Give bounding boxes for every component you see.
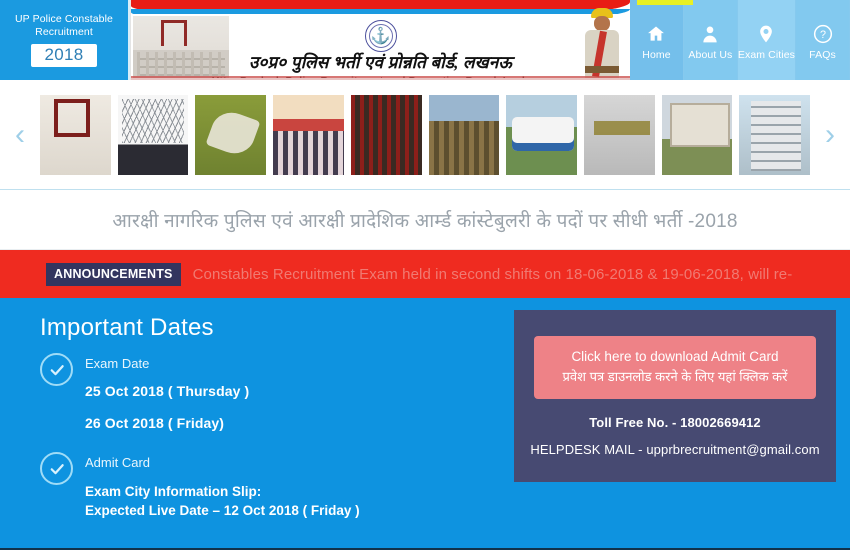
police-emblem-icon [365, 20, 397, 52]
chevron-left-icon[interactable]: ‹ [0, 80, 40, 190]
banner-titles: उ०प्र० पुलिस भर्ती एवं प्रोन्नति बोर्ड, … [131, 20, 630, 80]
admit-card-label: Admit Card [85, 455, 360, 470]
chevron-right-icon[interactable]: › [810, 80, 850, 190]
download-admit-card-label-en: Click here to download Admit Card [540, 347, 810, 367]
location-pin-icon [755, 23, 777, 45]
carousel-thumbnail[interactable] [273, 95, 344, 175]
exam-date-value-1: 25 Oct 2018 ( Thursday ) [85, 383, 249, 399]
site-header: UP Police Constable Recruitment 2018 उ०प… [0, 0, 850, 80]
question-circle-icon: ? [812, 23, 834, 45]
announcement-ticker-text[interactable]: Constables Recruitment Exam held in seco… [193, 266, 793, 283]
board-banner: उ०प्र० पुलिस भर्ती एवं प्रोन्नति बोर्ड, … [130, 0, 630, 80]
carousel-thumbnail[interactable] [506, 95, 577, 175]
download-admit-card-button[interactable]: Click here to download Admit Card प्रवेश… [534, 336, 816, 399]
carousel-thumbnail[interactable] [429, 95, 500, 175]
page-root: UP Police Constable Recruitment 2018 उ०प… [0, 0, 850, 550]
admit-card-help-panel: Click here to download Admit Card प्रवेश… [514, 310, 836, 482]
officer-belt [585, 66, 619, 73]
carousel-thumbnail[interactable] [118, 95, 189, 175]
carousel-thumbnail[interactable] [739, 95, 810, 175]
brand-year-badge: 2018 [31, 44, 96, 67]
carousel-thumbnail[interactable] [351, 95, 422, 175]
exam-date-value-2: 26 Oct 2018 ( Friday) [85, 415, 249, 431]
nav-accent-bar [637, 0, 693, 5]
nav-item-home[interactable]: Home [630, 0, 684, 80]
brand-title-line1: UP Police Constable [15, 13, 113, 25]
carousel-thumbnail[interactable] [662, 95, 733, 175]
brand-title: UP Police Constable Recruitment [15, 13, 113, 39]
check-circle-icon [40, 353, 73, 386]
download-admit-card-label-hi: प्रवेश पत्र डाउनलोड करने के लिए यहां क्ल… [540, 367, 810, 387]
exam-city-slip-line-2: Expected Live Date – 12 Oct 2018 ( Frida… [85, 501, 360, 520]
helpdesk-mail[interactable]: HELPDESK MAIL - upprbrecruitment@gmail.c… [530, 442, 819, 457]
officer-head [594, 16, 610, 31]
banner-title-hindi: उ०प्र० पुलिस भर्ती एवं प्रोन्नति बोर्ड, … [131, 53, 630, 73]
exam-date-label: Exam Date [85, 356, 249, 371]
police-officer-photo [578, 8, 626, 80]
brand-logo-block[interactable]: UP Police Constable Recruitment 2018 [0, 0, 130, 80]
announcement-bar: ANNOUNCEMENTS Constables Recruitment Exa… [0, 250, 850, 298]
page-title: आरक्षी नागरिक पुलिस एवं आरक्षी प्रादेशिक… [0, 190, 850, 250]
main-navigation: Home About Us Exam Cities ? FAQs [630, 0, 850, 80]
carousel-track [40, 93, 810, 177]
nav-label-faqs: FAQs [809, 49, 836, 61]
nav-item-exam-cities[interactable]: Exam Cities [738, 0, 796, 80]
check-circle-icon [40, 452, 73, 485]
nav-label-about-us: About Us [688, 49, 732, 61]
svg-text:?: ? [819, 29, 825, 41]
brand-title-line2: Recruitment [35, 26, 93, 38]
image-carousel: ‹ › [0, 80, 850, 190]
toll-free-number: Toll Free No. - 18002669412 [589, 415, 761, 430]
exam-date-block: Exam Date 25 Oct 2018 ( Thursday ) 26 Oc… [85, 352, 249, 437]
nav-item-about-us[interactable]: About Us [684, 0, 738, 80]
important-dates-section: Important Dates Exam Date 25 Oct 2018 ( … [0, 298, 850, 550]
home-icon [645, 23, 667, 45]
nav-item-faqs[interactable]: ? FAQs [796, 0, 850, 80]
person-icon [699, 23, 721, 45]
carousel-thumbnail[interactable] [584, 95, 655, 175]
nav-label-home: Home [642, 49, 670, 61]
nav-label-exam-cities: Exam Cities [738, 49, 795, 61]
carousel-thumbnail[interactable] [195, 95, 266, 175]
exam-city-slip-line-1: Exam City Information Slip: [85, 482, 360, 501]
carousel-thumbnail[interactable] [40, 95, 111, 175]
announcements-badge: ANNOUNCEMENTS [46, 263, 181, 286]
admit-card-block: Admit Card Exam City Information Slip: E… [85, 451, 360, 520]
